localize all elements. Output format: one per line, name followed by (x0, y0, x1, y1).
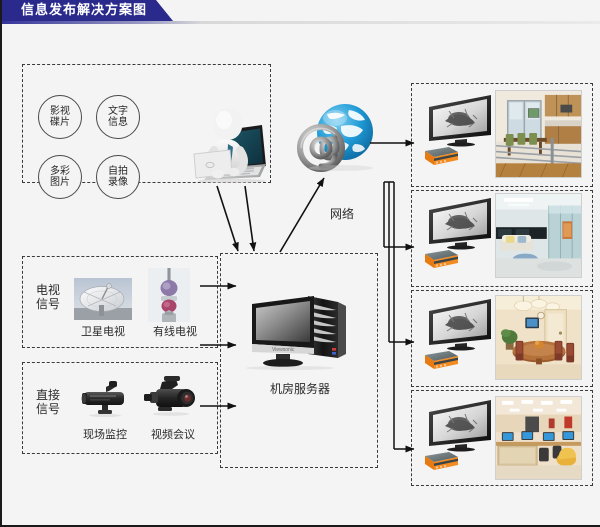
diagram-canvas: 信息发布解决方案图 影视 碟片 文字 信息 多彩 图片 自拍 录像 (0, 0, 600, 527)
arrow-content-to-server-b (245, 186, 254, 251)
satellite-dish-photo (74, 278, 132, 320)
tv-signal-label-line1: 电视 (31, 283, 65, 297)
media-player-box-icon (421, 349, 461, 375)
page-title: 信息发布解决方案图 (21, 2, 147, 19)
direct-signal-label-line1: 直接 (31, 388, 65, 402)
office-internet-cafe-photo (495, 396, 582, 480)
network-label: 网络 (312, 208, 372, 221)
bubble-text-info: 文字 信息 (96, 95, 140, 139)
title-underline (2, 21, 600, 24)
media-player-box-icon (421, 248, 461, 274)
warm-dining-room-photo (495, 295, 582, 380)
direct-signal-label-line2: 信号 (31, 402, 65, 416)
tv-tower-photo (148, 268, 190, 322)
person-with-laptop-icon (174, 98, 270, 183)
server-label: 机房服务器 (240, 383, 360, 396)
direct-signal-label: 直接 信号 (31, 388, 65, 416)
globe-icon (297, 100, 377, 176)
flat-screen-tv-icon (425, 398, 495, 452)
media-player-box-icon (421, 145, 461, 171)
bubble-line2: 碟片 (50, 117, 70, 128)
cctv-camera-photo (76, 378, 134, 418)
cable-tv-caption: 有线电视 (140, 325, 210, 338)
kitchen-dining-room-photo (495, 90, 582, 178)
flat-screen-tv-icon (425, 297, 495, 351)
bubble-selfie-video: 自拍 录像 (96, 155, 140, 199)
satellite-tv-caption: 卫星电视 (68, 325, 138, 338)
site-monitoring-caption: 现场监控 (70, 428, 140, 441)
title-banner: 信息发布解决方案图 (2, 0, 156, 21)
arrow-content-to-server-a (217, 186, 238, 251)
svg-text:Viewsonic: Viewsonic (272, 347, 295, 353)
bubble-line2: 图片 (50, 177, 70, 188)
bubble-line1: 文字 (108, 106, 128, 117)
bubble-line2: 录像 (108, 177, 128, 188)
bubble-colorful-pictures: 多彩 图片 (38, 155, 82, 199)
flat-screen-tv-icon (425, 196, 495, 250)
bubble-video-disc: 影视 碟片 (38, 95, 82, 139)
banner-slant-edge (156, 0, 173, 21)
bubble-line1: 多彩 (50, 166, 70, 177)
video-conference-caption: 视频会议 (138, 428, 208, 441)
media-player-box-icon (421, 450, 461, 476)
bubble-line1: 自拍 (108, 166, 128, 177)
tv-signal-label: 电视 信号 (31, 283, 65, 311)
camcorder-photo (142, 373, 200, 418)
tv-signal-label-line2: 信号 (31, 297, 65, 311)
bubble-line1: 影视 (50, 106, 70, 117)
desktop-computer-and-tower-icon: Viewsonic (242, 292, 352, 370)
bubble-line2: 信息 (108, 117, 128, 128)
modern-living-room-photo (495, 193, 582, 278)
flat-screen-tv-icon (425, 93, 495, 147)
